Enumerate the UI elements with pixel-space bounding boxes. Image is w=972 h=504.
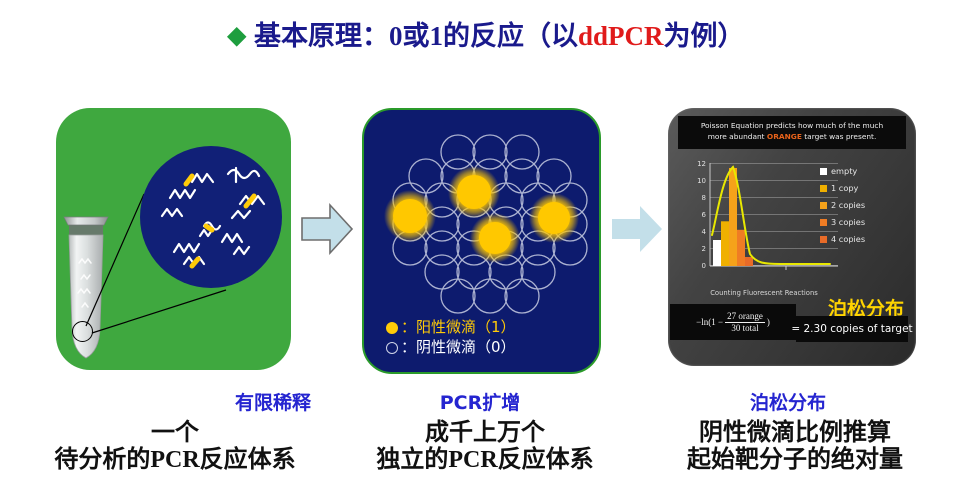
positive-droplet-icon	[386, 322, 398, 334]
ytick-12: 12	[697, 160, 706, 168]
tube-sample-pointer	[72, 321, 93, 342]
page-title: ◆基本原理：0或1的反应（以ddPCR为例）	[0, 14, 972, 53]
step-label-limited-dilution: 有限稀释	[153, 388, 393, 415]
equation-fraction: 27 orange 30 total	[725, 311, 765, 332]
legend-label-3copies: 3 copies	[831, 217, 865, 227]
negative-droplet-icon	[386, 342, 398, 354]
legend-row-positive: ：阳性微滴（1）	[386, 318, 516, 338]
legend-item-empty: empty	[820, 166, 906, 176]
caption-post: target was present.	[802, 132, 876, 141]
ytick-4: 4	[702, 228, 707, 236]
equation-suffix: )	[767, 317, 770, 327]
legend-swatch-4copies	[820, 236, 827, 243]
legend-positive-label: ：阳性微滴（1）	[401, 318, 516, 338]
poisson-caption: Poisson Equation predicts how much of th…	[678, 116, 906, 149]
legend-label-4copies: 4 copies	[831, 234, 865, 244]
panel-pcr-droplets: ：阳性微滴（1） ：阴性微滴（0）	[362, 108, 601, 374]
legend-label-2copies: 2 copies	[831, 200, 865, 210]
equation-prefix: −ln(1 −	[696, 317, 723, 327]
caption-dilution: 一个 待分析的PCR反应体系	[25, 420, 325, 474]
legend-label-1copy: 1 copy	[831, 183, 858, 193]
caption-2-line-1: 成千上万个	[335, 420, 635, 447]
title-paren-close: 为例）	[664, 21, 745, 51]
caption-pcr: 成千上万个 独立的PCR反应体系	[335, 420, 635, 474]
panel-limited-dilution	[56, 108, 291, 370]
legend-label-empty: empty	[831, 166, 857, 176]
legend-item-3copies: 3 copies	[820, 217, 906, 227]
title-highlight-ddpcr: ddPCR	[578, 21, 664, 51]
caption-3-line-2: 起始靶分子的绝对量	[645, 447, 945, 474]
legend-negative-label: ：阴性微滴（0）	[401, 338, 516, 358]
caption-poisson: 阴性微滴比例推算 起始靶分子的绝对量	[645, 420, 945, 474]
title-paren-open: （以	[524, 21, 578, 51]
equation-denominator: 30 total	[731, 323, 758, 333]
legend-item-2copies: 2 copies	[820, 200, 906, 210]
poisson-histogram-plot: 12 10 8 6 4 2 0	[690, 158, 840, 283]
legend-item-4copies: 4 copies	[820, 234, 906, 244]
chart-xaxis-label: Counting Fluorescent Reactions	[684, 289, 844, 297]
caption-orange-highlight: ORANGE	[767, 132, 802, 141]
ytick-0: 0	[702, 262, 706, 270]
ytick-10: 10	[697, 177, 706, 185]
droplet-legend: ：阳性微滴（1） ：阴性微滴（0）	[386, 318, 516, 358]
dna-strands-group	[140, 146, 282, 288]
magnified-sample-circle	[140, 146, 282, 288]
legend-swatch-1copy	[820, 185, 827, 192]
equation-numerator: 27 orange	[725, 311, 765, 322]
droplet-array	[364, 118, 599, 328]
legend-row-negative: ：阴性微滴（0）	[386, 338, 516, 358]
caption-3-line-1: 阴性微滴比例推算	[645, 420, 945, 447]
arrow-pcr-to-poisson	[610, 200, 664, 258]
poisson-result: = 2.30 copies of target	[796, 316, 908, 342]
poisson-caption-line1: Poisson Equation predicts how much of th…	[678, 120, 906, 131]
caption-2-line-2: 独立的PCR反应体系	[335, 447, 635, 474]
legend-swatch-2copies	[820, 202, 827, 209]
arrow-dilution-to-pcr	[300, 200, 354, 258]
ytick-2: 2	[702, 245, 706, 253]
step-label-pcr-amplification: PCR扩增	[360, 388, 600, 415]
legend-swatch-3copies	[820, 219, 827, 226]
panel-poisson-distribution: Poisson Equation predicts how much of th…	[668, 108, 916, 366]
title-lead-text: 基本原理：0或1的反应	[254, 21, 524, 51]
caption-1-line-1: 一个	[25, 420, 325, 447]
diamond-bullet-icon: ◆	[228, 23, 246, 49]
pcr-tube-icon	[61, 211, 111, 366]
chart-legend: empty 1 copy 2 copies 3 copies 4 copies	[820, 166, 906, 251]
positive-droplet-group	[384, 166, 579, 263]
ytick-8: 8	[702, 194, 706, 202]
ytick-6: 6	[702, 211, 707, 219]
poisson-equation: −ln(1 − 27 orange 30 total )	[670, 304, 796, 340]
legend-swatch-empty	[820, 168, 827, 175]
caption-pre: more abundant	[708, 132, 767, 141]
legend-item-1copy: 1 copy	[820, 183, 906, 193]
caption-1-line-2: 待分析的PCR反应体系	[25, 447, 325, 474]
step-label-poisson: 泊松分布	[668, 388, 908, 415]
histogram-bars	[713, 168, 753, 266]
poisson-caption-line2: more abundant ORANGE target was present.	[678, 131, 906, 142]
